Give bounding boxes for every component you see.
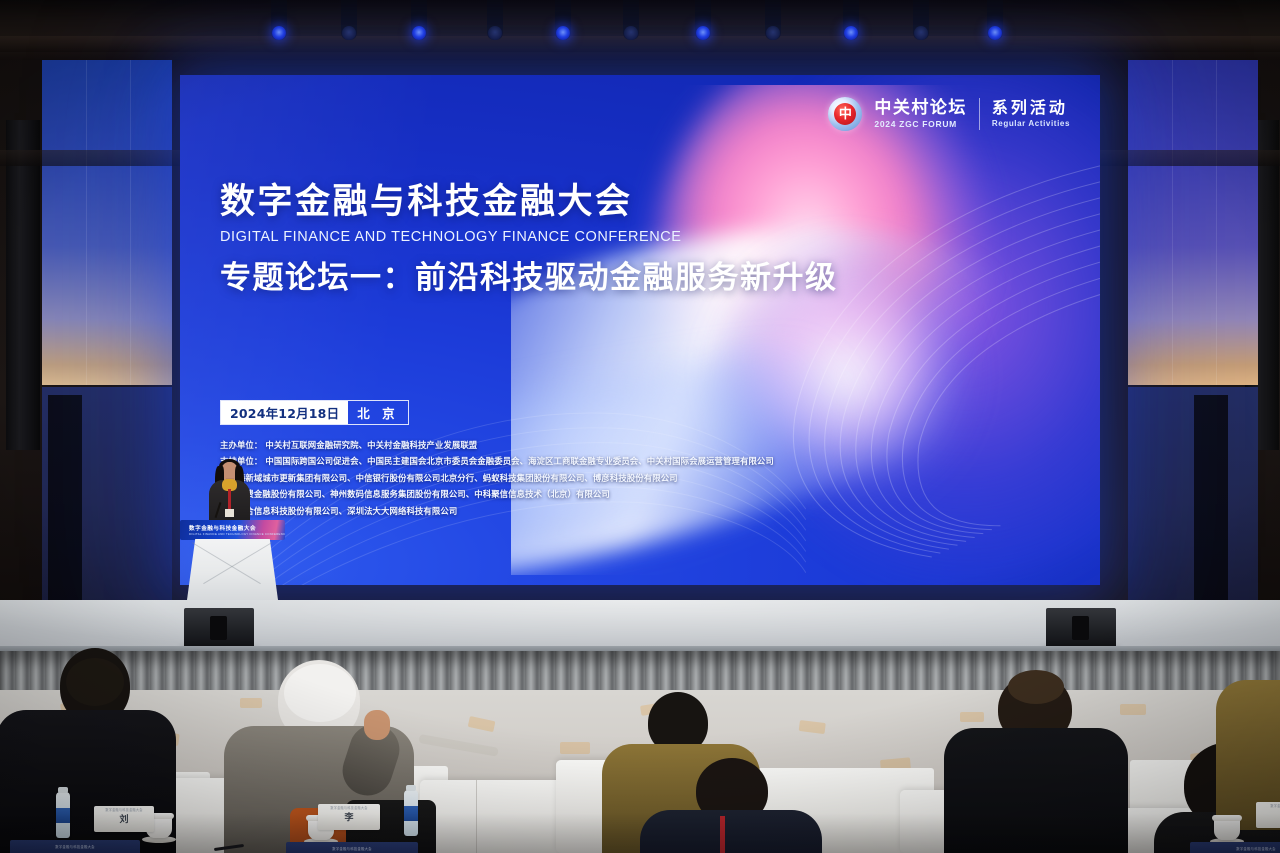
stage-light-icon bbox=[620, 0, 642, 52]
screen-content: 中 中关村论坛 2024 ZGC FORUM 系列活动 Regular Acti… bbox=[180, 75, 1100, 585]
logo-brand-en: 2024 ZGC FORUM bbox=[874, 120, 967, 129]
wall-panel-left bbox=[42, 55, 172, 620]
badge-date: 2024年12月18日 bbox=[221, 401, 348, 424]
panel-seam bbox=[1172, 55, 1173, 385]
audience-member bbox=[1216, 680, 1280, 800]
lectern: 数字金融与科技金融大会 DIGITAL FINANCE AND TECHNOLO… bbox=[180, 520, 285, 600]
wall-panel-right-upper bbox=[1128, 55, 1258, 385]
stage-light-icon bbox=[910, 0, 932, 52]
wall-panel-right-lower bbox=[1128, 387, 1258, 620]
logo-sub-cn: 系列活动 bbox=[992, 100, 1070, 116]
organizer-line: 北京海新域城市更新集团有限公司、中信银行股份有限公司北京分行、蚂蚁科技集团股份有… bbox=[220, 470, 774, 486]
organizer-line: 上海合合信息科技股份有限公司、深圳法大大网络科技有限公司 bbox=[220, 503, 774, 519]
door-left bbox=[48, 395, 82, 620]
organizer-line: 主办单位： 中关村互联网金融研究院、中关村金融科技产业发展联盟 bbox=[220, 437, 774, 453]
audience-member bbox=[640, 758, 820, 853]
stage-light-icon bbox=[408, 0, 430, 52]
logo-brand-cn: 中关村论坛 bbox=[874, 100, 967, 117]
logo-divider bbox=[979, 98, 980, 130]
program-card[interactable]: 数字金融与科技金融大会 bbox=[286, 842, 418, 853]
stage-light-icon bbox=[268, 0, 290, 52]
audience-member bbox=[936, 674, 1136, 853]
program-card[interactable]: 数字金融与科技金融大会 bbox=[10, 840, 140, 853]
stage-light-icon bbox=[840, 0, 862, 52]
program-card-text: 数字金融与科技金融大会 bbox=[1190, 846, 1280, 851]
stage-light-icon bbox=[484, 0, 506, 52]
program-card-text: 数字金融与科技金融大会 bbox=[10, 844, 140, 849]
conference-hall-photo: 中 中关村论坛 2024 ZGC FORUM 系列活动 Regular Acti… bbox=[0, 0, 1280, 853]
name-placard[interactable]: 数字金融与科技金融大会 杨 bbox=[1256, 802, 1280, 828]
stage-light-icon bbox=[984, 0, 1006, 52]
name-placard[interactable]: 数字金融与科技金融大会 刘 bbox=[94, 806, 154, 832]
date-location-badge: 2024年12月18日 北 京 bbox=[220, 400, 409, 425]
teacup bbox=[1214, 818, 1240, 840]
stage-monitor-speaker-left bbox=[184, 608, 254, 648]
lectern-banner: 数字金融与科技金融大会 DIGITAL FINANCE AND TECHNOLO… bbox=[180, 520, 285, 540]
line-array-speaker-left bbox=[6, 120, 40, 450]
wall-panel-right bbox=[1128, 55, 1258, 620]
conference-title-cn: 数字金融与科技金融大会 bbox=[220, 183, 838, 222]
stage-monitor-speaker-right bbox=[1046, 608, 1116, 648]
panel-seam bbox=[86, 55, 87, 385]
lectern-banner-en: DIGITAL FINANCE AND TECHNOLOGY FINANCE C… bbox=[189, 532, 285, 536]
stage-light-icon bbox=[692, 0, 714, 52]
logo-mark-letter: 中 bbox=[839, 108, 852, 121]
placard-name: 刘 bbox=[94, 812, 154, 825]
wall-panel-left-upper bbox=[42, 55, 172, 385]
badge-city: 北 京 bbox=[348, 401, 407, 424]
organizers-block: 主办单位： 中关村互联网金融研究院、中关村金融科技产业发展联盟 支持单位： 中国… bbox=[220, 437, 774, 519]
stage-light-icon bbox=[762, 0, 784, 52]
placard-name: 杨 bbox=[1256, 808, 1280, 821]
panel-seam bbox=[130, 55, 131, 385]
panel-seam bbox=[1216, 55, 1217, 385]
water-bottle bbox=[404, 790, 418, 836]
placard-name: 李 bbox=[318, 810, 380, 823]
forum-subtitle-cn: 专题论坛一：前沿科技驱动金融服务新升级 bbox=[220, 261, 838, 297]
stage-light-icon bbox=[338, 0, 360, 52]
name-placard[interactable]: 数字金融与科技金融大会 李 bbox=[318, 804, 380, 830]
zgc-logo-icon: 中 bbox=[828, 97, 862, 131]
stage-light-icon bbox=[552, 0, 574, 52]
program-card-text: 数字金融与科技金融大会 bbox=[286, 846, 418, 851]
led-stage-screen: 中 中关村论坛 2024 ZGC FORUM 系列活动 Regular Acti… bbox=[180, 75, 1100, 585]
program-card[interactable]: 数字金融与科技金融大会 bbox=[1190, 842, 1280, 853]
organizer-line: 马上消费金融股份有限公司、神州数码信息服务集团股份有限公司、中科聚信信息技术（北… bbox=[220, 486, 774, 502]
conference-title-en: DIGITAL FINANCE AND TECHNOLOGY FINANCE C… bbox=[220, 229, 838, 245]
logo-sub-en: Regular Activities bbox=[992, 120, 1070, 128]
title-block: 数字金融与科技金融大会 DIGITAL FINANCE AND TECHNOLO… bbox=[220, 183, 838, 296]
door-right bbox=[1194, 395, 1228, 620]
water-bottle bbox=[56, 792, 70, 838]
forum-logo: 中 中关村论坛 2024 ZGC FORUM 系列活动 Regular Acti… bbox=[828, 97, 1070, 131]
organizer-line: 支持单位： 中国国际跨国公司促进会、中国民主建国会北京市委员会金融委员会、海淀区… bbox=[220, 453, 774, 469]
